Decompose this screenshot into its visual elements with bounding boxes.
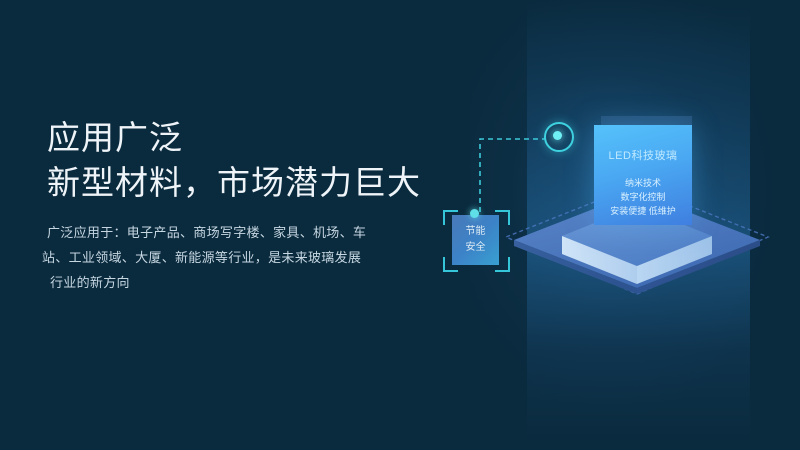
platform-left-face (514, 240, 637, 294)
headline-line-2: 新型材料，市场潜力巨大 (47, 160, 421, 205)
callout-anchor-dot-icon (470, 209, 479, 218)
body-line: 站、工业领域、大厦、新能源等行业，是未来玻璃发展 (42, 245, 367, 270)
body-paragraph: 广泛应用于：电子产品、商场写字楼、家具、机场、车 站、工业领域、大厦、新能源等行… (47, 220, 367, 295)
glass-panel-feature: 安装便捷 低维护 (594, 204, 692, 218)
glass-panel: LED科技玻璃 纳米技术 数字化控制 安装便捷 低维护 (594, 125, 692, 225)
body-line: 广泛应用于：电子产品、商场写字楼、家具、机场、车 (47, 220, 367, 245)
glass-panel-feature: 纳米技术 (594, 176, 692, 190)
dashed-connector (480, 139, 545, 212)
slab-right-face (637, 236, 712, 284)
callout-box: 节能 安全 (452, 215, 499, 265)
body-line: 行业的新方向 (50, 270, 367, 295)
callout-label: 节能 安全 (452, 224, 499, 256)
background-glow (470, 0, 800, 450)
callout-label-line: 节能 (452, 224, 499, 240)
slab-left-face (562, 236, 637, 284)
light-column (527, 0, 750, 450)
headline-line-1: 应用广泛 (47, 115, 421, 160)
glass-panel-feature: 数字化控制 (594, 190, 692, 204)
glass-panel-title: LED科技玻璃 (594, 147, 692, 163)
page-title: 应用广泛 新型材料，市场潜力巨大 (47, 115, 421, 205)
slide-canvas: LED科技玻璃 纳米技术 数字化控制 安装便捷 低维护 节能 安全 应用广泛 新… (0, 0, 800, 450)
connector-node-dot-icon (553, 131, 562, 140)
glass-panel-feature-list: 纳米技术 数字化控制 安装便捷 低维护 (594, 176, 692, 218)
platform-right-face (637, 240, 760, 294)
callout-label-line: 安全 (452, 240, 499, 256)
